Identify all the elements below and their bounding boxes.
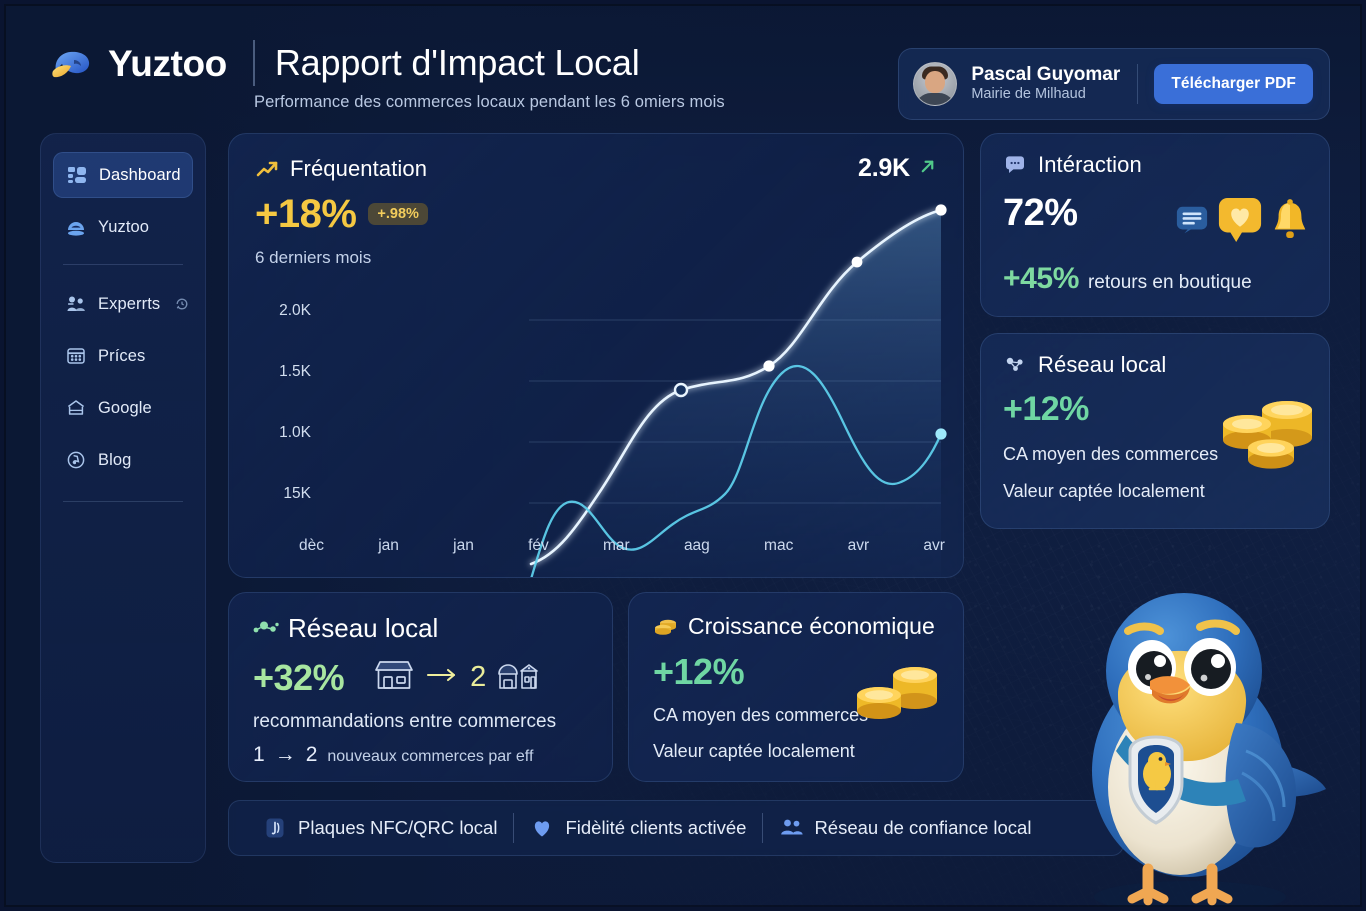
x-tick-label: dèc [299,537,324,555]
brand-name: Yuztoo [108,45,227,82]
page-title: Rapport d'Impact Local [275,45,640,81]
header-divider [253,40,255,86]
frequentation-badge: +.98% [368,203,428,226]
network-nodes-icon [1003,353,1027,377]
croissance-title: Croissance économique [688,613,935,640]
footer-item-label: Plaques NFC/QRC local [298,817,497,839]
x-tick-label: fév [528,537,549,555]
sidebar-divider-bottom [63,501,183,502]
arrow-right-icon [426,667,460,688]
x-tick-label: jan [453,537,474,555]
sidebar-item-experts[interactable]: Experrts [53,281,193,327]
message-lines-icon [1175,203,1209,242]
chart-x-axis: dèc jan jan fév mar aag mac avr avr [299,537,945,555]
network-nodes-green-icon [253,617,277,641]
interaction-delta: +45% [1003,264,1079,294]
reseau-bottom-value: +32% [253,660,344,696]
yuztoo-bird-logo-icon [48,40,94,86]
reseau-right-header: Réseau local [1003,352,1307,378]
blog-disc-icon [65,449,87,471]
interaction-footer: +45% retours en boutique [1003,264,1252,294]
download-pdf-button[interactable]: Télécharger PDF [1154,64,1313,104]
shops-pair-icon [496,658,544,697]
coins-stack-icon [653,615,677,639]
chart-total-block: 2.9K [858,154,937,183]
user-name: Pascal Guyomar [971,65,1121,86]
sidebar-item-blog[interactable]: Blog [53,437,193,483]
page-subtitle: Performance des commerces locaux pendant… [254,93,725,112]
sidebar: Dashboard Yuztoo [40,133,206,863]
sidebar-item-label: Príces [98,347,145,366]
reseau-bottom-description: recommandations entre commerces [253,711,588,733]
brand-block: Yuztoo Rapport d'Impact Local [48,40,640,86]
user-text-block: Pascal Guyomar Mairie de Milhaud [971,65,1121,104]
chart-card-inner: Fréquentation +18% +.98% 6 derniers mois… [229,134,963,577]
footer-item-loyalty[interactable]: Fidèlité clients activée [514,816,762,840]
sidebar-item-label: Experrts [98,295,160,314]
page-header: Yuztoo Rapport d'Impact Local Performanc… [0,0,1366,130]
report-dashboard: Yuztoo Rapport d'Impact Local Performanc… [0,0,1366,911]
x-tick-label: avr [848,537,870,555]
frequentation-value-row: +18% +.98% [255,194,937,234]
footer-item-nfc[interactable]: Plaques NFC/QRC local [247,816,513,840]
sidebar-item-google[interactable]: Google [53,385,193,431]
footer-arrow-glyph: → [275,743,296,767]
reseau-bottom-header: Réseau local [253,613,588,644]
interaction-header: Intéraction [1003,152,1307,178]
footer-from-count: 1 [253,743,265,767]
reseau-bottom-title: Réseau local [288,613,438,644]
footer-item-label: Fidèlité clients activée [565,817,746,839]
footer-to-count: 2 [306,743,318,767]
y-tick-label: 15K [283,485,311,503]
interaction-card: Intéraction 72% [980,133,1330,317]
user-account-pill[interactable]: Pascal Guyomar Mairie de Milhaud Télécha… [898,48,1330,120]
x-tick-label: aag [684,537,710,555]
reseau-bottom-inner: Réseau local +32% [229,593,612,781]
chart-total-value: 2.9K [858,154,910,183]
shop-growth-illustration: 2 [372,658,544,697]
avatar [913,62,957,106]
bell-icon [1271,199,1309,246]
trend-up-arrow-icon [255,157,279,181]
gold-coins-icon [847,655,947,740]
y-tick-label: 2.0K [279,302,311,320]
x-tick-label: jan [378,537,399,555]
sidebar-item-label: Yuztoo [98,218,149,237]
user-role: Mairie de Milhaud [971,87,1121,103]
sidebar-item-label: Google [98,399,152,418]
gold-coins-icon [1209,384,1319,479]
people-group-icon [779,816,803,840]
reseau-right-title: Réseau local [1038,352,1166,378]
reseau-local-bottom-card: Réseau local +32% [228,592,613,782]
heart-bubble-icon [1217,196,1263,249]
storefront-icon [372,658,416,697]
shop-to-count: 2 [470,663,486,692]
croissance-line2: Valeur captée localement [653,741,939,762]
history-clock-icon[interactable] [175,297,189,311]
frequentation-percent: +18% [255,194,356,234]
croissance-header: Croissance économique [653,613,939,640]
x-tick-label: avr [923,537,945,555]
reseau-bottom-footer: 1 → 2 nouveaux commerces par eff [253,743,588,767]
frequentation-header: Fréquentation [255,156,937,182]
sidebar-item-yuztoo[interactable]: Yuztoo [53,204,193,250]
frequentation-period: 6 derniers mois [255,248,937,268]
footer-item-label: Réseau de confiance local [814,817,1031,839]
sidebar-item-label: Blog [98,451,131,470]
reseau-right-line2: Valeur captée localement [1003,481,1307,502]
croissance-economique-card: Croissance économique +12% CA moyen des … [628,592,964,782]
pill-divider [1137,64,1138,104]
sidebar-divider-top [63,264,183,265]
chat-bubble-icon [1003,153,1027,177]
reseau-local-right-card: Réseau local +12% CA moyen des commerces… [980,333,1330,529]
frequentation-title: Fréquentation [290,156,427,182]
sidebar-item-dashboard[interactable]: Dashboard [53,152,193,198]
interaction-note: retours en boutique [1088,272,1252,294]
sidebar-item-prices[interactable]: Príces [53,333,193,379]
interaction-icon-group [1175,196,1309,249]
sidebar-item-label: Dashboard [99,166,181,185]
x-tick-label: mac [764,537,793,555]
dashboard-grid-icon [66,164,88,186]
yuztoo-mark-icon [65,216,87,238]
footer-feature-bar: Plaques NFC/QRC local Fidèlité clients a… [228,800,1124,856]
store-house-icon [65,397,87,419]
y-tick-label: 1.5K [279,363,311,381]
croissance-inner: Croissance économique +12% CA moyen des … [629,593,963,781]
footer-item-trust-network[interactable]: Réseau de confiance local [763,816,1047,840]
reseau-bottom-value-row: +32% 2 [253,658,588,697]
frequentation-chart-card: Fréquentation +18% +.98% 6 derniers mois… [228,133,964,578]
interaction-title: Intéraction [1038,152,1142,178]
arrow-up-right-icon [918,157,937,181]
footer-description: nouveaux commerces par eff [327,748,533,766]
pricing-table-icon [65,345,87,367]
nfc-tag-icon [263,816,287,840]
y-tick-label: 1.0K [279,424,311,442]
heart-icon [530,816,554,840]
reseau-right-inner: Réseau local +12% CA moyen des commerces… [981,334,1329,528]
interaction-card-inner: Intéraction 72% [981,134,1329,316]
experts-people-icon [65,293,87,315]
x-tick-label: mar [603,537,630,555]
